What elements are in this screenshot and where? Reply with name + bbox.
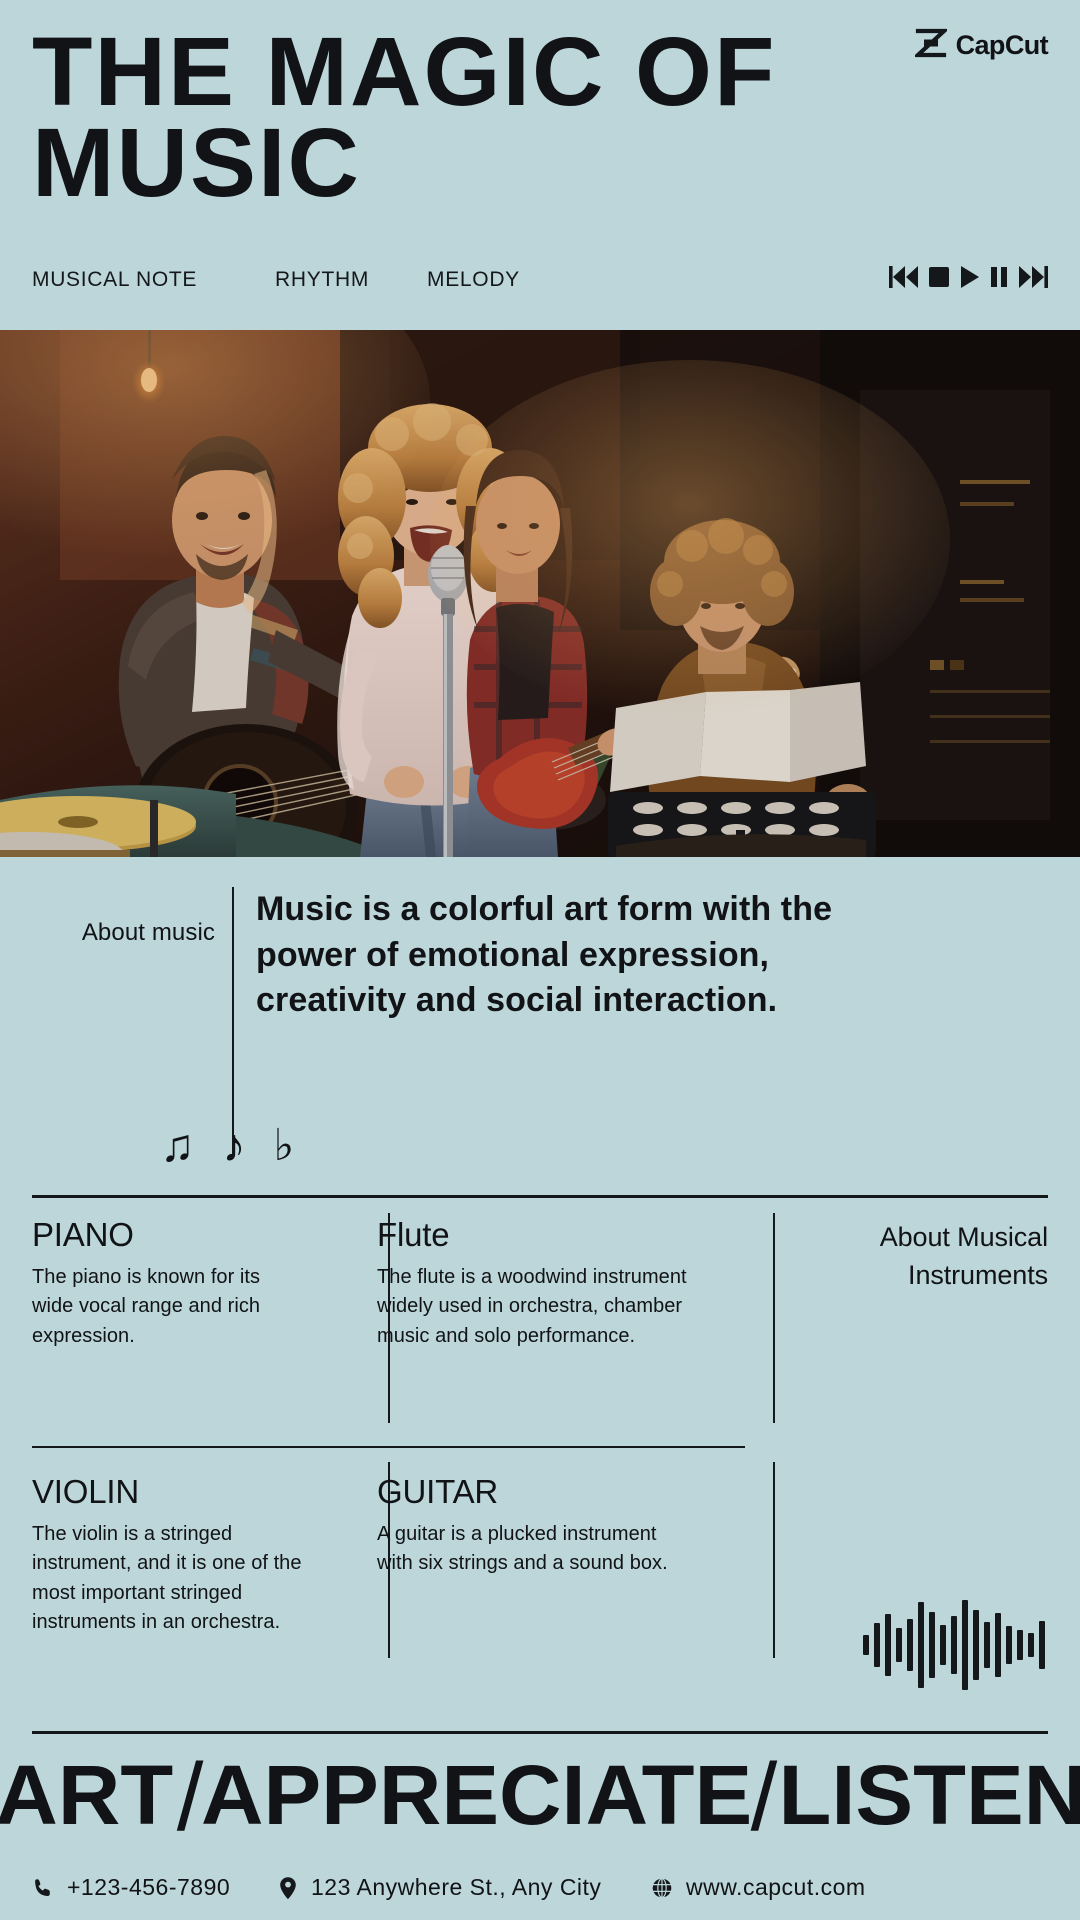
play-icon[interactable]	[959, 264, 980, 290]
instrument-row-1: PIANO The piano is known for its wide vo…	[0, 1195, 1080, 1444]
page-title: THE MAGIC OF MUSIC	[32, 26, 807, 208]
instrument-card-flute: Flute The flute is a woodwind instrument…	[355, 1195, 735, 1444]
instrument-card-violin: VIOLIN The violin is a stringed instrume…	[0, 1452, 355, 1663]
instrument-description: The violin is a stringed instrument, and…	[32, 1520, 307, 1638]
stop-icon[interactable]	[928, 264, 950, 290]
hero-photo	[0, 330, 1080, 857]
contact-phone[interactable]: +123-456-7890	[32, 1874, 278, 1901]
pause-icon[interactable]	[989, 264, 1009, 290]
instrument-name: PIANO	[32, 1218, 307, 1253]
slogan-word-listen: LISTEN	[779, 1753, 1080, 1837]
waveform-bar	[918, 1602, 924, 1688]
capcut-logo-icon	[915, 28, 947, 63]
waveform-bar	[896, 1628, 902, 1662]
waveform-bar	[995, 1613, 1001, 1677]
contact-bar: +123-456-7890 123 Anywhere St., Any City…	[0, 1840, 1080, 1901]
slogan-word-art: ART	[0, 1753, 173, 1837]
contact-address[interactable]: 123 Anywhere St., Any City	[278, 1874, 651, 1901]
waveform-bar	[951, 1616, 957, 1674]
beamed-eighth-notes-icon: ♫	[160, 1122, 195, 1168]
slogan-separator: /	[745, 1750, 784, 1846]
eighth-note-icon: ♪	[223, 1122, 246, 1168]
about-music-body: Music is a colorful art form with the po…	[234, 887, 854, 1024]
waveform-bar	[907, 1619, 913, 1671]
instrument-card-piano: PIANO The piano is known for its wide vo…	[0, 1195, 355, 1444]
player-controls	[889, 264, 1048, 290]
instrument-description: The flute is a woodwind instrument widel…	[377, 1263, 695, 1352]
instrument-description: A guitar is a plucked instrument with si…	[377, 1520, 695, 1579]
nav-item-rhythm[interactable]: RHYTHM	[275, 268, 427, 292]
waveform-bar	[874, 1623, 880, 1667]
audio-waveform-icon	[863, 1600, 1045, 1690]
waveform-bar	[984, 1622, 990, 1668]
instrument-name: Flute	[377, 1218, 695, 1253]
flat-sign-icon: ♭	[274, 1124, 295, 1168]
contact-website[interactable]: www.capcut.com	[651, 1874, 866, 1901]
waveform-bar	[863, 1635, 869, 1655]
location-pin-icon	[278, 1876, 298, 1900]
music-note-glyphs: ♫ ♪ ♭	[160, 1122, 294, 1168]
waveform-bar	[885, 1614, 891, 1676]
instrument-name: VIOLIN	[32, 1475, 307, 1510]
poster-header: THE MAGIC OF MUSIC CapCut MUSICAL NOTE R…	[0, 0, 1080, 330]
instruments-heading-block: About Musical Instruments	[735, 1195, 1080, 1444]
slogan-word-appreciate: APPRECIATE	[201, 1753, 752, 1837]
skip-forward-icon[interactable]	[1018, 264, 1048, 290]
instrument-card-guitar: GUITAR A guitar is a plucked instrument …	[355, 1452, 735, 1663]
instruments-section: PIANO The piano is known for its wide vo…	[0, 1195, 1080, 1663]
brand-logo: CapCut	[915, 28, 1048, 63]
waveform-bar	[1039, 1621, 1045, 1669]
instruments-heading: About Musical Instruments	[763, 1218, 1048, 1295]
nav-item-musical-note[interactable]: MUSICAL NOTE	[32, 268, 275, 292]
brand-name: CapCut	[956, 30, 1048, 61]
slogan: ART / APPRECIATE / LISTEN	[0, 1744, 1080, 1840]
header-nav: MUSICAL NOTE RHYTHM MELODY	[32, 268, 1048, 292]
waveform-bar	[1006, 1626, 1012, 1664]
about-music-label: About music	[32, 887, 232, 948]
waveform-bar	[962, 1600, 968, 1690]
instrument-description: The piano is known for its wide vocal ra…	[32, 1263, 307, 1352]
website-url: www.capcut.com	[686, 1874, 866, 1901]
waveform-bar	[1017, 1630, 1023, 1660]
waveform-bar	[929, 1612, 935, 1678]
phone-number: +123-456-7890	[67, 1874, 230, 1901]
skip-back-icon[interactable]	[889, 264, 919, 290]
band-photo	[0, 330, 1080, 857]
poster-footer: ART / APPRECIATE / LISTEN +123-456-7890 …	[0, 1744, 1080, 1901]
nav-item-melody[interactable]: MELODY	[427, 268, 520, 292]
waveform-bar	[1028, 1633, 1034, 1657]
instrument-name: GUITAR	[377, 1475, 695, 1510]
divider-bottom	[32, 1731, 1048, 1734]
phone-icon	[32, 1877, 54, 1899]
globe-icon	[651, 1877, 673, 1899]
waveform-bar	[973, 1610, 979, 1680]
waveform-bar	[940, 1625, 946, 1665]
address: 123 Anywhere St., Any City	[311, 1874, 601, 1901]
